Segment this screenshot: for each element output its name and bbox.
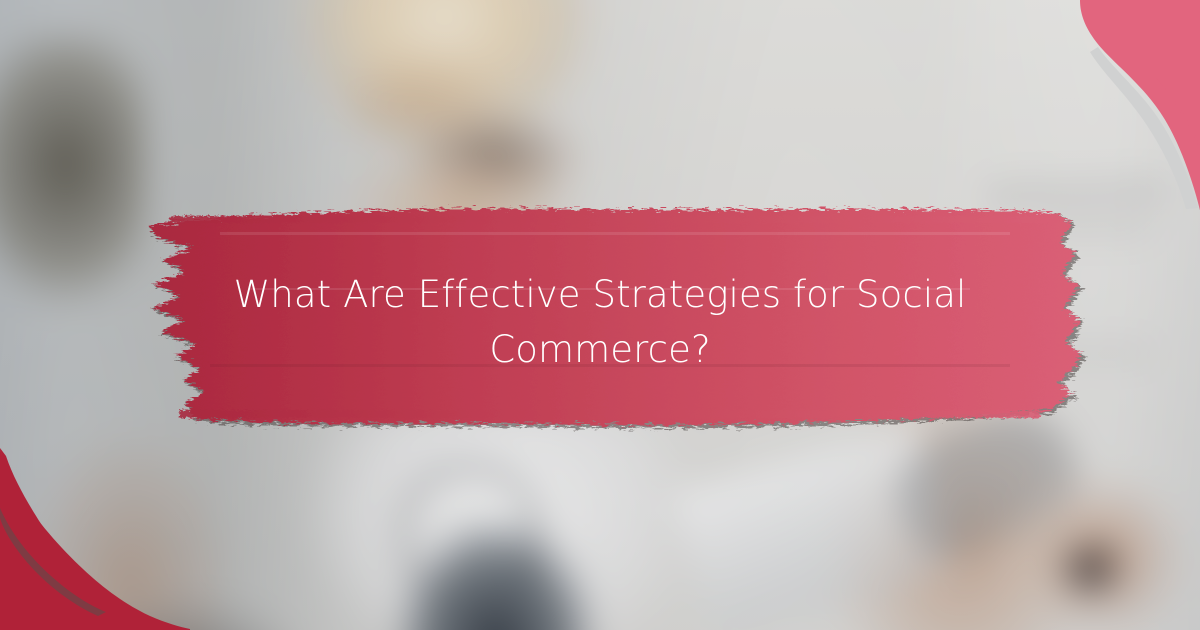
title-block: What Are Effective Strategies for Social…	[150, 268, 1050, 378]
top-right-swoosh	[1010, 0, 1200, 210]
social-share-card: What Are Effective Strategies for Social…	[0, 0, 1200, 630]
bottom-left-swoosh	[0, 430, 190, 630]
bottom-left-swoosh-main-shape	[0, 448, 190, 630]
page-title: What Are Effective Strategies for Social…	[150, 268, 1050, 378]
